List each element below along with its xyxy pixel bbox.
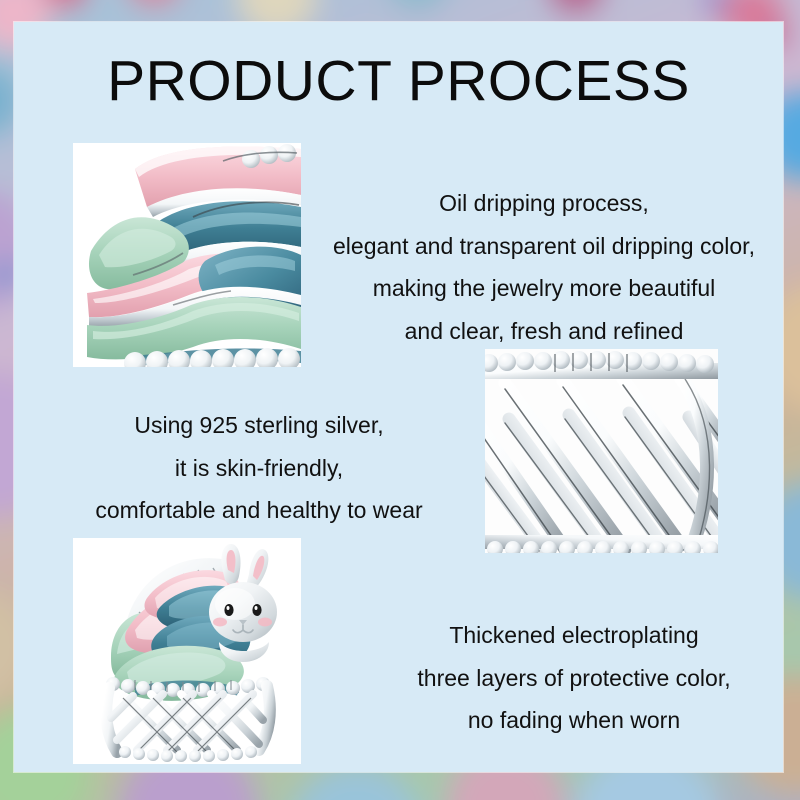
copy-line: Oil dripping process, [314,182,774,225]
copy-line: elegant and transparent oil dripping col… [314,225,774,268]
silver-lattice-photo [485,349,718,553]
sterling-silver-copy: Using 925 sterling silver, it is skin-fr… [44,404,474,532]
copy-line: and clear, fresh and refined [314,310,774,353]
oil-dripping-copy: Oil dripping process, elegant and transp… [314,182,774,352]
copy-line: it is skin-friendly, [44,447,474,490]
copy-line: comfortable and healthy to wear [44,489,474,532]
copy-line: Thickened electroplating [359,614,789,657]
copy-line: Using 925 sterling silver, [44,404,474,447]
background-flower-icon [700,0,730,14]
page-title: PRODUCT PROCESS [14,48,783,114]
bunny-basket-charm-illustration [73,538,301,764]
enamel-macro-photo [73,143,301,367]
copy-line: making the jewelry more beautiful [314,267,774,310]
silver-lattice-illustration [485,349,718,553]
enamel-macro-illustration [73,143,301,367]
content-card: PRODUCT PROCESS [14,22,783,772]
bunny-basket-charm-photo [73,538,301,764]
copy-line: no fading when worn [359,699,789,742]
electroplating-copy: Thickened electroplating three layers of… [359,614,789,742]
copy-line: three layers of protective color, [359,657,789,700]
